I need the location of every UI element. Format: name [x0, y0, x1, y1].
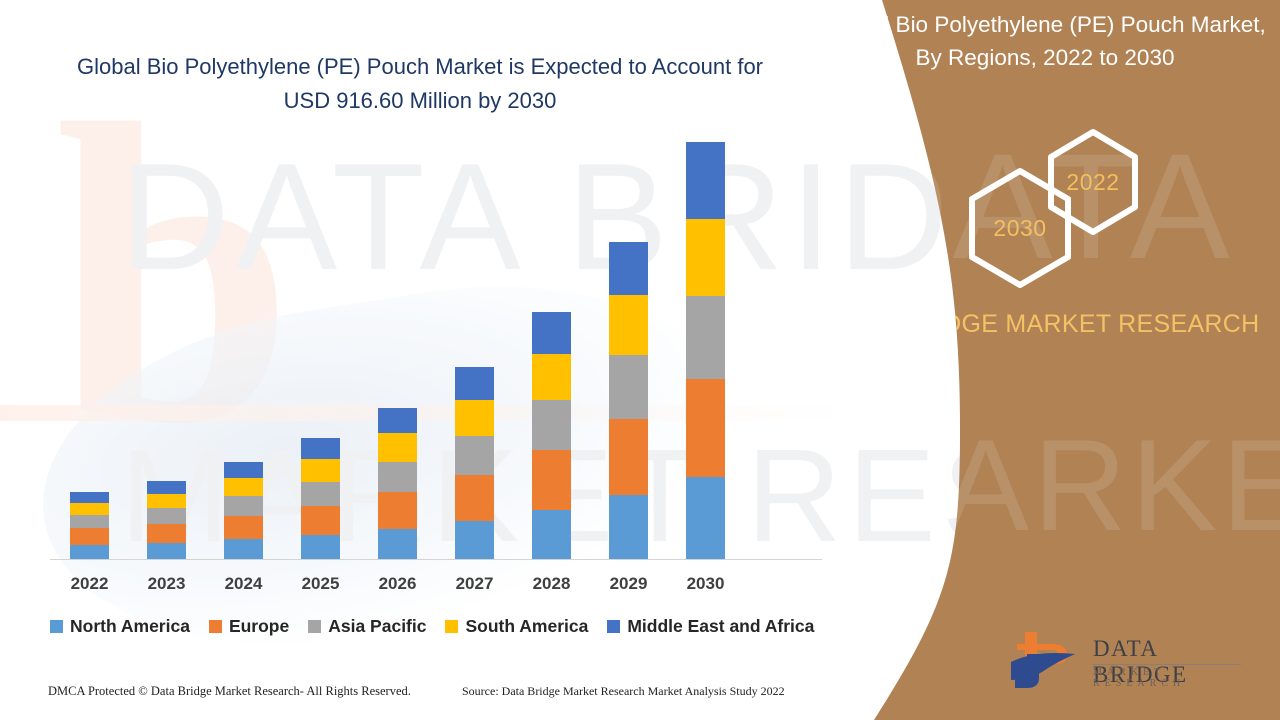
- legend-item[interactable]: North America: [50, 616, 190, 637]
- bar-segment: [147, 543, 186, 559]
- bar-column-2022: [70, 492, 109, 559]
- bar-segment: [224, 516, 263, 540]
- bar-segment: [686, 142, 725, 220]
- legend-swatch-icon: [607, 620, 620, 633]
- bar-column-2023: [147, 481, 186, 559]
- company-logo: DATA BRIDGE MARKET RESEARCH: [1005, 628, 1255, 700]
- bar-segment: [455, 400, 494, 436]
- panel-title: Global Bio Polyethylene (PE) Pouch Marke…: [810, 8, 1280, 74]
- data-bridge-logo-mark-icon: [1005, 628, 1091, 692]
- bar-column-2025: [301, 438, 340, 559]
- hexagon-start-year-label: 2022: [1066, 169, 1119, 196]
- legend-swatch-icon: [50, 620, 63, 633]
- bar-segment: [686, 379, 725, 476]
- bar-segment: [609, 242, 648, 296]
- bar-segment: [532, 510, 571, 559]
- bar-segment: [686, 296, 725, 379]
- bar-column-2026: [378, 408, 417, 559]
- hexagon-year-badges: 2030 2022: [810, 128, 1280, 268]
- bar-segment: [686, 219, 725, 296]
- legend-label: North America: [70, 616, 190, 637]
- legend-label: Asia Pacific: [328, 616, 426, 637]
- bar-segment: [532, 450, 571, 509]
- logo-subtitle: MARKET RESEARCH: [1093, 667, 1255, 689]
- x-axis-label-2028: 2028: [522, 574, 582, 594]
- legend-label: South America: [465, 616, 588, 637]
- bar-segment: [70, 492, 109, 504]
- legend-item[interactable]: South America: [445, 616, 588, 637]
- bar-segment: [609, 355, 648, 420]
- hexagon-badge-start-year: 2022: [1045, 128, 1141, 236]
- page-title: Global Bio Polyethylene (PE) Pouch Marke…: [60, 50, 780, 118]
- bar-segment: [224, 496, 263, 516]
- x-axis-label-2027: 2027: [445, 574, 505, 594]
- bar-segment: [609, 495, 648, 559]
- x-axis-label-2025: 2025: [291, 574, 351, 594]
- bar-segment: [70, 503, 109, 515]
- bar-segment: [378, 433, 417, 461]
- brand-name: DATA BRIDGE MARKET RESEARCH: [810, 308, 1280, 341]
- bar-segment: [455, 521, 494, 559]
- brand-panel: DATA BRIDGE MARKET RESEARCH Global Bio P…: [810, 0, 1280, 720]
- bar-segment: [378, 529, 417, 559]
- legend-label: Europe: [229, 616, 289, 637]
- bar-segment: [301, 482, 340, 506]
- bar-segment: [147, 494, 186, 508]
- bar-segment: [532, 312, 571, 354]
- bar-column-2028: [532, 312, 571, 559]
- x-axis-label-2029: 2029: [599, 574, 659, 594]
- footer-source: Source: Data Bridge Market Research Mark…: [462, 684, 785, 699]
- bar-segment: [686, 477, 725, 559]
- bar-segment: [301, 506, 340, 535]
- x-axis-label-2024: 2024: [214, 574, 274, 594]
- bar-segment: [455, 367, 494, 400]
- bar-segment: [532, 354, 571, 400]
- bar-segment: [301, 535, 340, 559]
- x-axis-label-2026: 2026: [368, 574, 428, 594]
- bar-column-2027: [455, 367, 494, 559]
- bar-segment: [147, 481, 186, 494]
- bar-segment: [301, 438, 340, 459]
- hexagon-end-year-label: 2030: [993, 215, 1046, 242]
- bar-segment: [378, 462, 417, 493]
- bar-segment: [609, 419, 648, 495]
- logo-divider: [1093, 664, 1241, 665]
- legend-swatch-icon: [445, 620, 458, 633]
- footer-copyright: DMCA Protected © Data Bridge Market Rese…: [48, 684, 411, 699]
- legend-item[interactable]: Europe: [209, 616, 289, 637]
- bar-column-2024: [224, 462, 263, 559]
- bar-segment: [224, 539, 263, 559]
- bar-segment: [301, 459, 340, 482]
- panel-watermark-line2: MARKET RESEARCH: [830, 410, 1280, 560]
- x-axis-line: [50, 559, 822, 560]
- stacked-bar-chart: [50, 140, 822, 560]
- x-axis-label-2030: 2030: [676, 574, 736, 594]
- bar-segment: [378, 492, 417, 529]
- bar-segment: [378, 408, 417, 433]
- bar-segment: [224, 478, 263, 496]
- panel-watermark: DATA BRIDGE MARKET RESEARCH: [810, 0, 1280, 720]
- legend-swatch-icon: [308, 620, 321, 633]
- x-axis-label-2023: 2023: [137, 574, 197, 594]
- legend-item[interactable]: Asia Pacific: [308, 616, 426, 637]
- bar-segment: [455, 475, 494, 521]
- bar-column-2029: [609, 242, 648, 559]
- bar-segment: [147, 524, 186, 543]
- bar-segment: [532, 400, 571, 451]
- x-axis-labels: 202220232024202520262027202820292030: [50, 574, 822, 598]
- legend-label: Middle East and Africa: [627, 616, 814, 637]
- x-axis-label-2022: 2022: [60, 574, 120, 594]
- bar-segment: [70, 528, 109, 544]
- bar-segment: [147, 508, 186, 523]
- bar-segment: [70, 545, 109, 559]
- bar-segment: [224, 462, 263, 478]
- bar-segment: [70, 515, 109, 528]
- bar-segment: [609, 295, 648, 354]
- bar-column-2030: [686, 142, 725, 559]
- bar-segment: [455, 436, 494, 474]
- chart-legend: North AmericaEuropeAsia PacificSouth Ame…: [50, 612, 840, 640]
- legend-item[interactable]: Middle East and Africa: [607, 616, 814, 637]
- legend-swatch-icon: [209, 620, 222, 633]
